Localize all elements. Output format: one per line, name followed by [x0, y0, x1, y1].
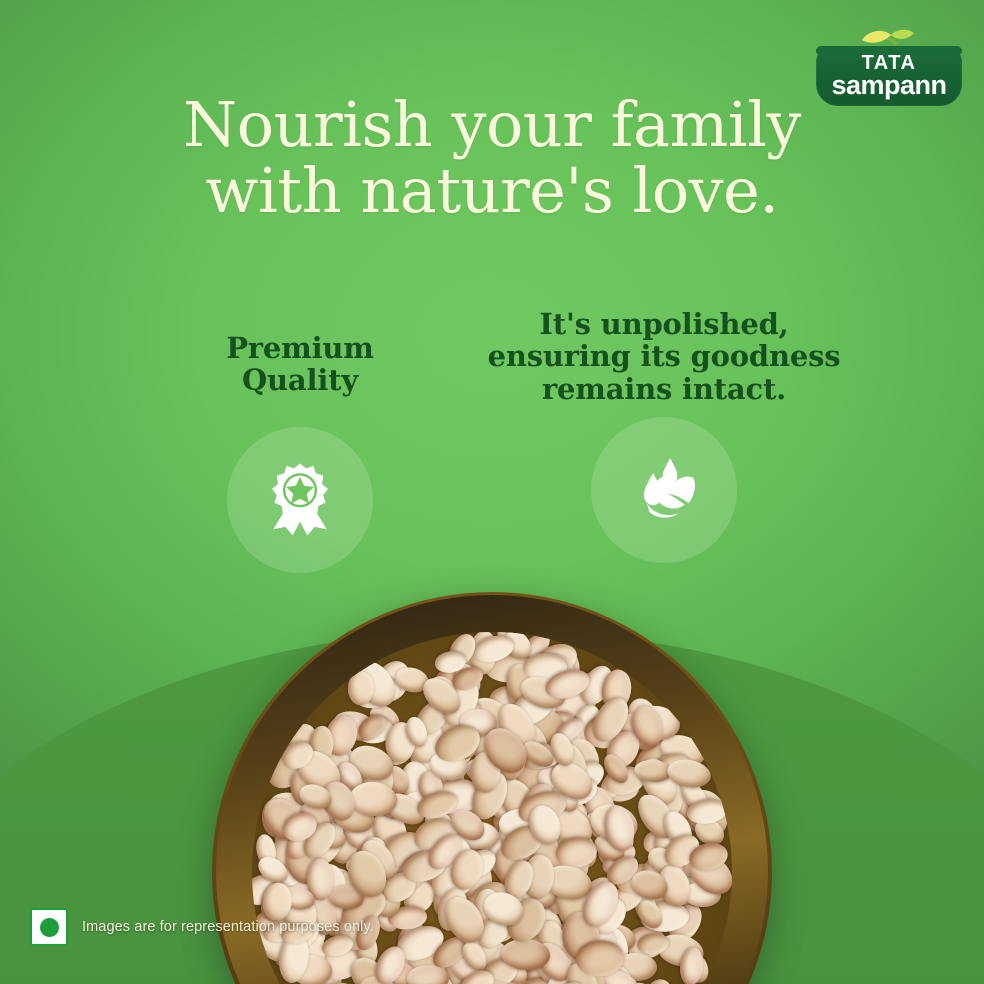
- feature-title-line-1: Premium: [226, 332, 374, 364]
- award-ribbon-icon: [261, 461, 339, 539]
- feature-title-line-2: Quality: [226, 364, 374, 396]
- bean: [407, 965, 449, 984]
- feature-title: It's unpolished, ensuring its goodness r…: [488, 308, 841, 405]
- feature-title-line-3: remains intact.: [488, 373, 841, 405]
- feature-icon-circle: [591, 417, 737, 563]
- headline: Nourish your family with nature's love.: [0, 92, 984, 223]
- headline-line-1: Nourish your family: [183, 88, 801, 161]
- vegetarian-dot: [40, 918, 59, 937]
- feature-title-line-2: ensuring its goodness: [488, 340, 841, 372]
- feature-title-line-1: It's unpolished,: [488, 308, 841, 340]
- headline-line-2: with nature's love.: [90, 158, 894, 224]
- feature-unpolished: It's unpolished, ensuring its goodness r…: [479, 300, 849, 563]
- promo-poster: TATA sampann Nourish your family with na…: [0, 0, 984, 984]
- bean: [347, 671, 375, 706]
- vegetarian-mark-icon: [30, 908, 68, 946]
- footer: Images are for representation purposes o…: [30, 908, 374, 946]
- feature-list: Premium Quality It's unpolished, ensurin…: [0, 300, 984, 573]
- hand-leaf-water-drop-icon: [625, 451, 703, 529]
- feature-icon-circle: [227, 427, 373, 573]
- disclaimer-text: Images are for representation purposes o…: [82, 919, 374, 935]
- feature-premium-quality: Premium Quality: [135, 300, 465, 573]
- feature-title: Premium Quality: [226, 332, 374, 397]
